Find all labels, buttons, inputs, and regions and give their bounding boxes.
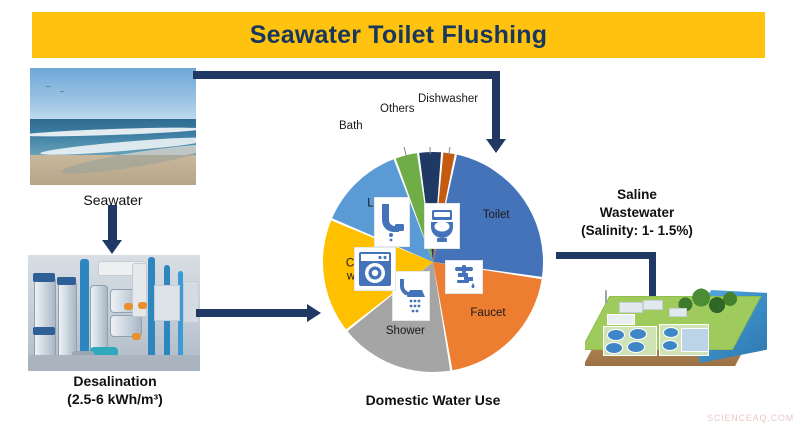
valve <box>124 303 133 310</box>
seawater-photo: ~ ~ <box>30 68 196 185</box>
arrow-seawater-to-desalination-shaft <box>108 205 117 241</box>
clarifier-tank <box>607 329 625 341</box>
title-banner: Seawater Toilet Flushing <box>32 12 765 58</box>
pie-label-faucet: Faucet <box>470 307 506 319</box>
shower-icon <box>392 271 430 321</box>
arrow-seawater-to-toilet-horizontal <box>193 71 500 79</box>
desalination-photo <box>28 255 200 371</box>
blue-pipe <box>80 259 89 365</box>
site-watermark: SCIENCEAQ.COM <box>707 413 794 423</box>
diagram-canvas: Seawater Toilet Flushing ~ ~ Seawater <box>0 0 800 429</box>
aeration-tank <box>662 340 678 351</box>
control-cabinet <box>154 285 180 321</box>
saline-line-3: (Salinity: 1- 1.5%) <box>548 222 726 240</box>
pie-label-others: Others <box>380 103 415 115</box>
plant-building <box>619 302 643 313</box>
arrow-seawater-to-desalination-head <box>102 240 122 254</box>
stack-icon <box>605 290 607 304</box>
domestic-water-use-pie-chart: ToiletFaucetShowerClotheswasherLeak <box>318 147 548 377</box>
desalination-caption: Desalination (2.5-6 kWh/m³) <box>10 372 220 408</box>
pie-label-bath: Bath <box>339 120 363 132</box>
ro-vessel <box>90 285 108 353</box>
ro-vessel <box>58 281 77 361</box>
arrow-seawater-to-toilet-vertical <box>492 71 500 140</box>
desalination-caption-line1: Desalination <box>10 372 220 390</box>
saline-wastewater-caption: Saline Wastewater (Salinity: 1- 1.5%) <box>548 186 726 240</box>
sky-region <box>30 68 196 122</box>
ro-vessel <box>34 277 56 361</box>
wastewater-plant-illustration <box>585 278 767 376</box>
aeration-tank <box>663 327 679 338</box>
pie-label-shower: Shower <box>386 325 425 337</box>
bird-icon: ~ <box>46 84 50 91</box>
clarifier-tank <box>605 342 623 354</box>
pie-svg: ToiletFaucetShowerClotheswasherLeak <box>318 147 548 377</box>
clarifier-tank <box>629 328 647 340</box>
valve <box>132 333 141 340</box>
plant-building <box>643 300 663 310</box>
pie-label-toilet: Toilet <box>483 209 511 221</box>
faucet-icon <box>445 260 483 294</box>
valve <box>138 302 147 309</box>
desalination-caption-line2: (2.5-6 kWh/m³) <box>10 390 220 408</box>
plant-building <box>669 308 687 317</box>
bird-icon: ~ <box>60 89 64 96</box>
filter-beds <box>681 328 709 352</box>
sedimentation-basin <box>607 314 635 325</box>
arrow-chart-to-wastewater-horizontal <box>556 252 656 259</box>
ro-vessel-cap <box>57 277 76 285</box>
toilet-icon <box>424 203 460 249</box>
pie-label-dishwasher: Dishwasher <box>418 93 478 105</box>
page-title: Seawater Toilet Flushing <box>250 21 547 50</box>
washing-machine-icon <box>354 247 396 291</box>
plant-floor <box>28 355 200 371</box>
chart-title: Domestic Water Use <box>333 392 533 408</box>
saline-line-2: Wastewater <box>548 204 726 222</box>
ro-vessel-cap <box>33 273 55 282</box>
arrow-desalination-to-chart-shaft <box>196 309 308 317</box>
clarifier-tank <box>627 341 645 353</box>
saline-line-1: Saline <box>548 186 726 204</box>
ro-vessel-cap <box>33 327 55 335</box>
leaky-pipe-icon <box>374 197 410 247</box>
